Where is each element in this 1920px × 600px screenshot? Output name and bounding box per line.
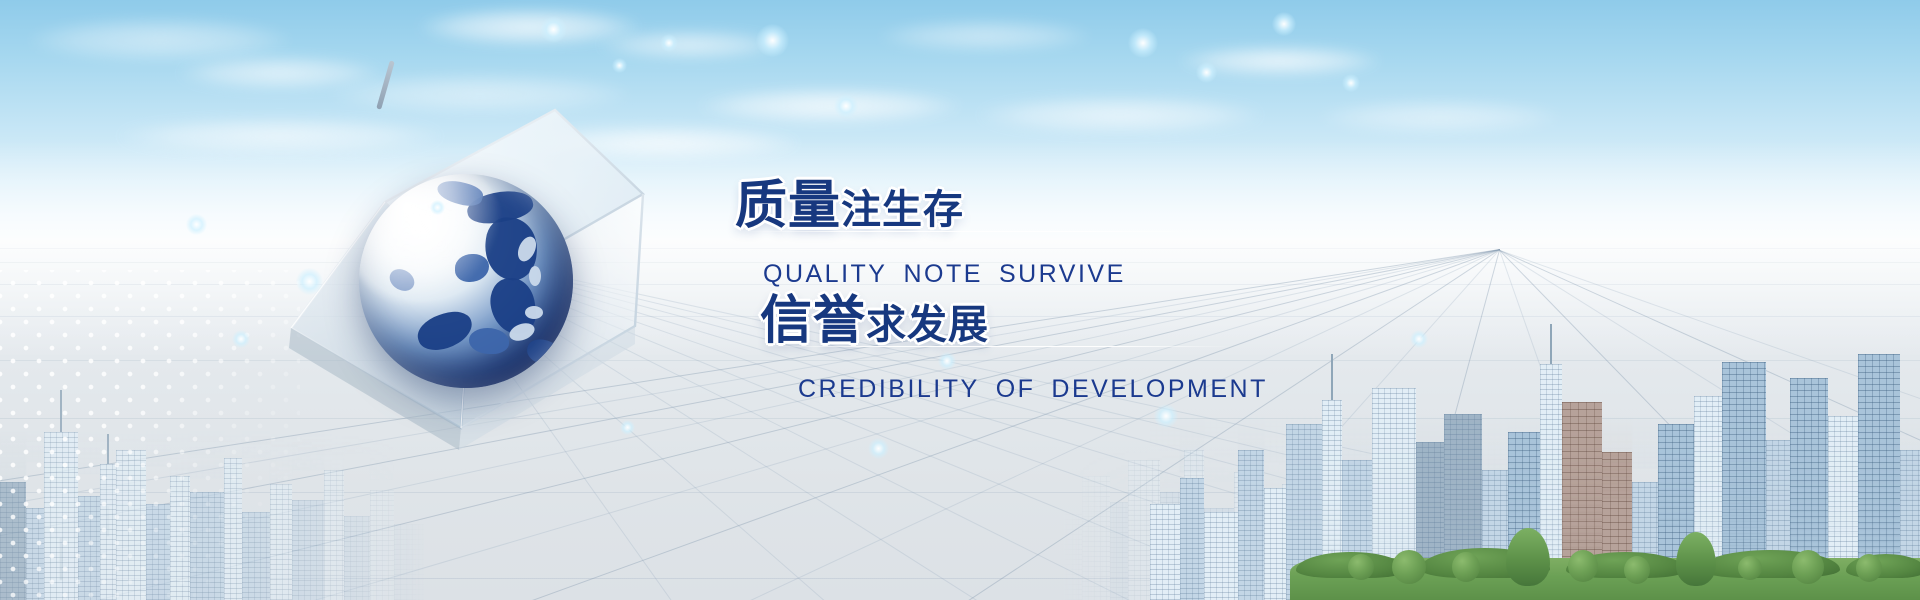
building [1828, 350, 1858, 534]
tree [1624, 556, 1650, 584]
building [1562, 350, 1602, 548]
tree [1792, 550, 1824, 584]
tree [1676, 532, 1716, 586]
bokeh-sparkle [540, 16, 567, 43]
tree [1392, 550, 1426, 584]
slogan-quality-chinese: 质量注生存 [735, 163, 1126, 238]
slogan-quality-chinese-strong: 质量 [735, 177, 841, 235]
slogan-quality: 质量注生存 QUALITYNOTESURVIVE [735, 163, 1126, 289]
bokeh-sparkle [232, 330, 250, 348]
building [1416, 350, 1444, 508]
slogan-credibility-word-1: CREDIBILITY [798, 375, 980, 403]
marketing-banner: 质量注生存 QUALITYNOTESURVIVE 信誉求发展 CREDIBILI… [0, 0, 1920, 600]
bokeh-sparkle [834, 94, 858, 118]
bokeh-sparkle [612, 58, 627, 73]
tree-canopy [1348, 554, 1374, 580]
building [1372, 350, 1416, 562]
tree-canopy [1738, 556, 1762, 580]
building [1694, 350, 1722, 554]
bokeh-sparkle [1128, 28, 1158, 58]
bokeh-sparkle [1342, 74, 1360, 92]
bokeh-sparkle [1196, 62, 1217, 83]
tree-canopy [1624, 556, 1650, 584]
tree [1348, 554, 1374, 580]
bokeh-sparkle [430, 200, 445, 215]
tree-canopy [1676, 532, 1716, 586]
tree [1738, 556, 1762, 580]
bokeh-sparkle [1410, 330, 1428, 348]
bokeh-sparkle [868, 438, 889, 459]
bokeh-sparkle [1154, 404, 1178, 428]
tree-canopy [1792, 550, 1824, 584]
slogan-credibility-word-3: DEVELOPMENT [1051, 375, 1267, 403]
bokeh-sparkle [186, 214, 207, 235]
slogan-credibility: 信誉求发展 CREDIBILITYOFDEVELOPMENT [760, 278, 1268, 404]
building [1110, 390, 1128, 488]
bokeh-sparkle [660, 34, 678, 52]
tree-canopy [1392, 550, 1426, 584]
tree [1856, 554, 1882, 582]
building [1632, 350, 1658, 468]
building [1444, 350, 1482, 536]
slogan-credibility-chinese-rest: 求发展 [866, 303, 989, 347]
tree-canopy [1452, 552, 1480, 582]
building [1482, 350, 1508, 480]
bokeh-sparkle [1272, 12, 1296, 36]
building [1508, 350, 1540, 518]
slogan-credibility-word-2: OF [996, 375, 1036, 403]
earth-globe [359, 174, 573, 388]
building [1082, 390, 1110, 514]
building [1342, 350, 1372, 490]
slogan-credibility-chinese: 信誉求发展 [760, 278, 1268, 353]
tree-canopy [1568, 550, 1598, 582]
building [1766, 350, 1790, 510]
slogan-quality-divider [739, 231, 1209, 232]
tree [1506, 528, 1550, 586]
tree [1568, 550, 1598, 582]
tree-canopy [1856, 554, 1882, 582]
bokeh-sparkle [296, 268, 323, 295]
building [1322, 350, 1342, 550]
tree-canopy [1506, 528, 1550, 586]
building [1602, 350, 1632, 498]
building [1658, 350, 1694, 526]
slogan-credibility-english: CREDIBILITYOFDEVELOPMENT [798, 375, 1268, 404]
tree [1452, 552, 1480, 582]
building [1286, 350, 1322, 526]
bokeh-sparkle [620, 420, 635, 435]
building [1900, 350, 1920, 500]
bokeh-sparkle [756, 24, 789, 57]
slogan-credibility-divider [764, 346, 1234, 347]
slogan-quality-chinese-rest: 注生存 [841, 188, 964, 232]
building [1790, 350, 1828, 572]
slogan-credibility-chinese-strong: 信誉 [760, 292, 866, 350]
